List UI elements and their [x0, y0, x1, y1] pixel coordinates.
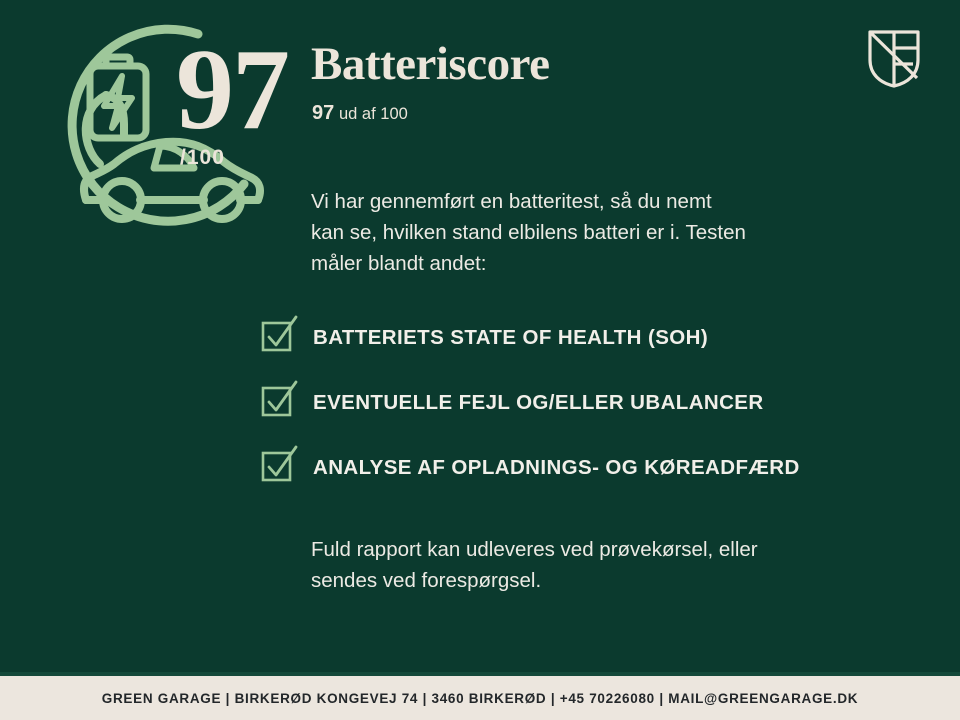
footer-contact-text: GREEN GARAGE | BIRKERØD KONGEVEJ 74 | 34… [102, 691, 858, 706]
brand-logo[interactable] [866, 28, 922, 88]
batteriscore-card: 97 /100 Batteriscore 97 ud af 100 Vi har… [0, 0, 960, 720]
intro-line: kan se, hvilken stand elbilens batteri e… [311, 217, 841, 248]
list-item-label: ANALYSE AF OPLADNINGS- OG KØREADFÆRD [313, 456, 800, 480]
page-title: Batteriscore [311, 41, 549, 88]
checkbox-checked-icon [260, 383, 304, 423]
badge-denominator: /100 [180, 146, 225, 170]
checkbox-checked-icon [260, 318, 304, 358]
list-item: BATTERIETS STATE OF HEALTH (SOH) [260, 305, 860, 370]
batteriscore-badge: 97 /100 [48, 18, 298, 240]
subtitle-rest: ud af 100 [339, 105, 408, 123]
page-subtitle: 97 ud af 100 [312, 103, 408, 123]
list-item: EVENTUELLE FEJL OG/ELLER UBALANCER [260, 370, 860, 435]
green-garage-shield-logo-icon [866, 28, 922, 88]
intro-paragraph: Vi har gennemført en batteritest, så du … [311, 186, 841, 279]
intro-line: Vi har gennemført en batteritest, så du … [311, 186, 841, 217]
outro-paragraph: Fuld rapport kan udleveres ved prøvekørs… [311, 534, 841, 596]
intro-line: måler blandt andet: [311, 248, 841, 279]
list-item-label: EVENTUELLE FEJL OG/ELLER UBALANCER [313, 391, 764, 415]
feature-checklist: BATTERIETS STATE OF HEALTH (SOH) EVENTUE… [260, 305, 860, 500]
outro-line: Fuld rapport kan udleveres ved prøvekørs… [311, 534, 841, 565]
outro-line: sendes ved forespørgsel. [311, 565, 841, 596]
list-item-label: BATTERIETS STATE OF HEALTH (SOH) [313, 326, 708, 350]
footer-bar: GREEN GARAGE | BIRKERØD KONGEVEJ 74 | 34… [0, 676, 960, 720]
badge-score: 97 [176, 32, 288, 148]
subtitle-score: 97 [312, 102, 334, 124]
list-item: ANALYSE AF OPLADNINGS- OG KØREADFÆRD [260, 435, 860, 500]
checkbox-checked-icon [260, 448, 304, 488]
